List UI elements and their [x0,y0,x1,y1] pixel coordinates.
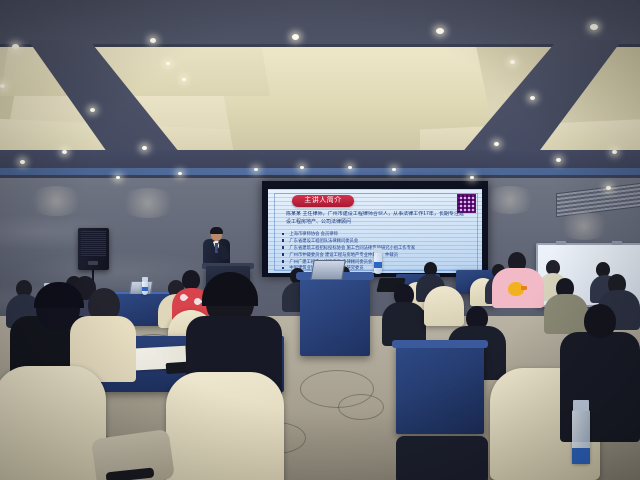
ceiling-downlight [392,168,396,171]
ceiling-downlight [116,176,120,179]
bottle-label [572,448,590,464]
ceiling-downlight [62,150,67,154]
ceiling-downlight [150,38,156,43]
list-item: 广东省建设工程团队法律顾问委员会 [282,238,472,244]
wall-light-pool [26,186,86,216]
ceiling-downlight [348,166,352,169]
ceiling-downlight [556,158,561,162]
chair [0,366,106,480]
attendee-torso [544,294,588,334]
ceiling-beam-top [0,0,640,46]
ceiling-downlight [470,176,474,179]
ceiling-downlight [254,168,258,171]
audience-area [0,258,640,480]
ceiling-downlight [0,84,5,88]
ceiling-downlight [494,142,499,146]
bullet-icon [282,233,284,235]
coffered-ceiling [0,0,640,182]
ceiling-downlight [20,160,25,164]
ceiling-downlight [606,186,611,190]
ceiling-downlight [530,96,535,100]
wall-light-pool [556,212,612,240]
ceiling-downlight [612,150,617,154]
slide-title-badge: 主讲人简介 [292,195,354,207]
bullet-icon [282,239,284,241]
ceiling-downlight [300,166,304,169]
ceiling-downlight [436,28,444,34]
bottle-cap [573,400,589,411]
laptop [310,260,346,280]
ceiling-downlight [142,146,147,150]
bottle-label [374,262,382,268]
ceiling-downlight [292,34,299,40]
ceiling-downlight [510,60,515,64]
bullet-icon [282,253,284,255]
bottle-cap [142,277,148,281]
whiteboard-clip-right [612,241,622,245]
ceiling-downlight [178,172,182,175]
ceiling-downlight [182,78,186,81]
list-item: 上海市律师协会 会员律师 [282,231,472,237]
attendee-head [182,270,200,290]
conference-room-photo: 主讲人简介 陈某某 主任律师，广州市建设工程律师合伙人，从事法律工作17年，长期… [0,0,640,480]
ceiling-downlight [590,24,598,30]
presenter-hair [210,227,223,234]
bottle-cap [374,248,382,253]
bullet-icon [282,246,284,248]
table [396,344,484,434]
ceiling-downlight [12,44,19,49]
ceiling-downlight [166,62,170,65]
attendee-hair [202,272,258,306]
bottle-label [142,287,148,291]
table-top [392,340,488,348]
ceiling-downlight [90,108,95,112]
attendee-head [584,304,616,338]
attendee-leg [396,436,488,480]
chair [424,286,464,326]
ceiling-beam-top-edge [0,44,640,47]
whiteboard-clip-left [556,241,566,245]
ceiling-cove-glow [0,168,640,175]
wall-light-pool [118,188,178,218]
table [300,276,370,356]
speaker-grille [81,231,106,257]
chair [166,372,284,480]
slide-intro-text: 陈某某 主任律师，广州市建设工程律师合伙人，从事法律工作17年，长期专注建设工程… [286,211,464,226]
wall-light-pool [482,186,538,214]
duck-beak-icon [521,286,527,290]
